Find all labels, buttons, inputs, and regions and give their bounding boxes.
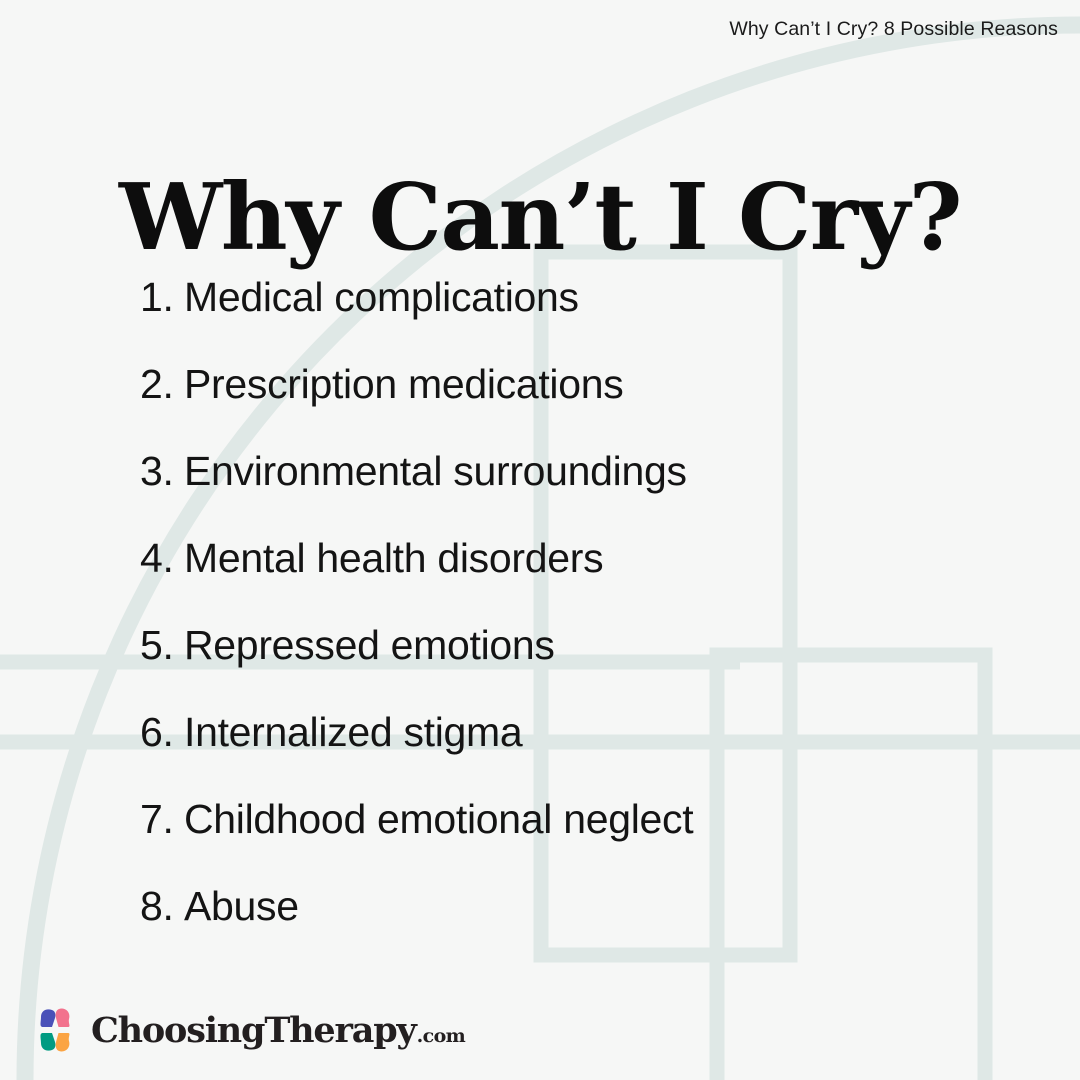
page-title: Why Can’t I Cry? (0, 169, 1080, 266)
reasons-list: 1. Medical complications 2. Prescription… (140, 277, 1000, 973)
list-item-number: 7. (140, 799, 184, 840)
brand-wordmark: ChoosingTherapy.com (91, 1013, 465, 1048)
list-item: 3. Environmental surroundings (140, 451, 1000, 538)
list-item-number: 3. (140, 451, 184, 492)
list-item-number: 5. (140, 625, 184, 666)
list-item: 2. Prescription medications (140, 364, 1000, 451)
list-item: 6. Internalized stigma (140, 712, 1000, 799)
logo-petal-orange (56, 1033, 70, 1051)
list-item-label: Repressed emotions (184, 625, 555, 666)
list-item-label: Environmental surroundings (184, 451, 687, 492)
list-item-number: 4. (140, 538, 184, 579)
list-item-number: 1. (140, 277, 184, 318)
social-card: Why Can’t I Cry? 8 Possible Reasons Why … (0, 0, 1080, 1080)
list-item: 7. Childhood emotional neglect (140, 799, 1000, 886)
list-item-number: 2. (140, 364, 184, 405)
list-item-label: Prescription medications (184, 364, 623, 405)
list-item-label: Childhood emotional neglect (184, 799, 693, 840)
logo-petal-blue (41, 1009, 56, 1027)
article-eyebrow-title: Why Can’t I Cry? 8 Possible Reasons (729, 18, 1058, 41)
list-item-label: Mental health disorders (184, 538, 603, 579)
brand-tld: .com (417, 1027, 466, 1046)
list-item-number: 6. (140, 712, 184, 753)
logo-petal-pink (56, 1009, 70, 1027)
list-item: 8. Abuse (140, 886, 1000, 973)
list-item-label: Internalized stigma (184, 712, 522, 753)
list-item-number: 8. (140, 886, 184, 927)
brand-logo: ChoosingTherapy.com (30, 1002, 465, 1058)
list-item: 5. Repressed emotions (140, 625, 1000, 712)
list-item-label: Abuse (184, 886, 299, 927)
logo-petal-teal (41, 1033, 56, 1051)
list-item-label: Medical complications (184, 277, 579, 318)
choosing-therapy-pinwheel-icon (30, 1005, 80, 1055)
list-item: 4. Mental health disorders (140, 538, 1000, 625)
list-item: 1. Medical complications (140, 277, 1000, 364)
brand-name: ChoosingTherapy (91, 1013, 416, 1048)
